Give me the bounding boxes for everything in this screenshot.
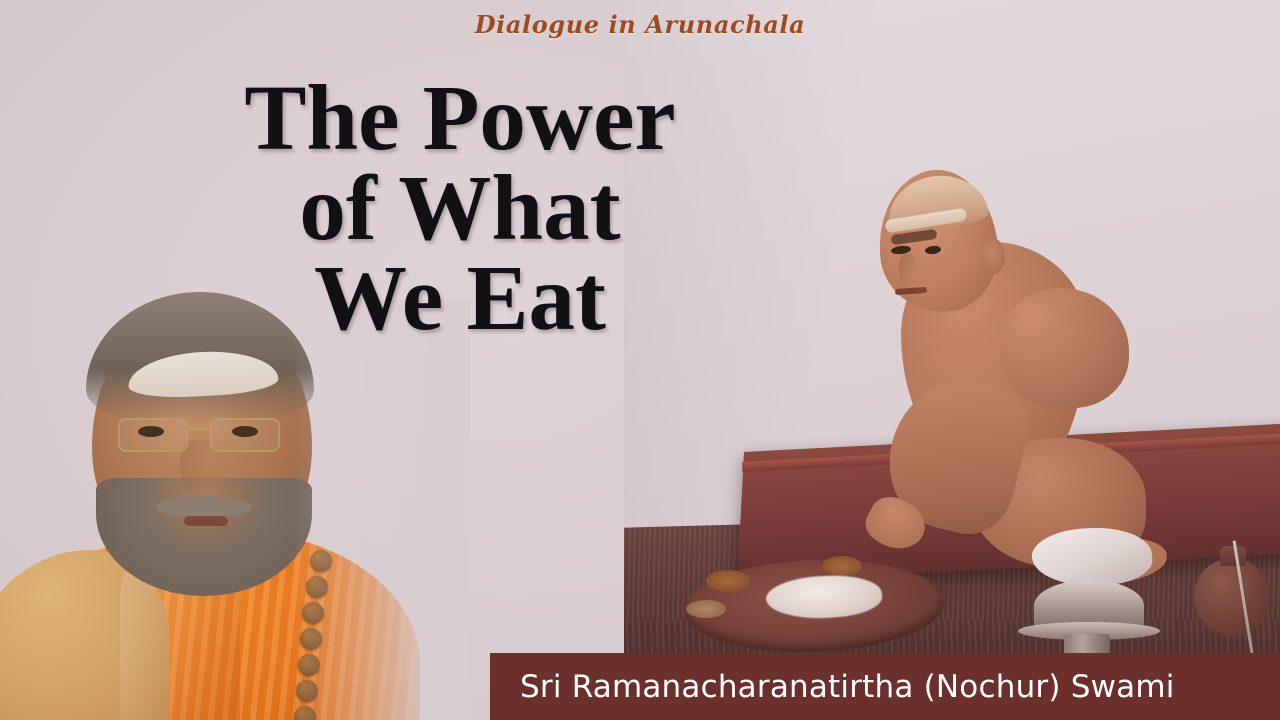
portrait-lips: [184, 516, 228, 526]
food-side-dish-one: [706, 570, 750, 592]
title-line-2: of What: [40, 164, 880, 254]
clay-pot: [1194, 558, 1270, 636]
video-thumbnail: Dialogue in Arunachala The Power of What…: [0, 0, 1280, 720]
title-line-3: We Eat: [40, 254, 880, 344]
food-side-dish-three: [686, 600, 726, 618]
speaker-name-bar: Sri Ramanacharanatirtha (Nochur) Swami: [490, 653, 1280, 720]
speaker-name: Sri Ramanacharanatirtha (Nochur) Swami: [520, 669, 1175, 705]
eyeglass-right-lens: [210, 418, 280, 452]
food-side-dish-two: [822, 556, 862, 576]
eyeglass-left-lens: [118, 418, 188, 452]
sage-nose: [899, 254, 917, 288]
title-line-1: The Power: [40, 74, 880, 164]
sage-shoulder: [999, 288, 1129, 408]
speaker-portrait: [0, 300, 470, 720]
eyeglass-bridge: [184, 428, 210, 430]
eyeglasses: [118, 418, 296, 448]
portrait-mustache: [156, 496, 252, 518]
series-kicker: Dialogue in Arunachala: [0, 10, 1280, 39]
sage-ear: [981, 238, 1005, 274]
rudraksha-bead-chain: [300, 550, 334, 720]
seated-sage-figure: [839, 170, 1139, 570]
page-title: The Power of What We Eat: [40, 74, 880, 345]
